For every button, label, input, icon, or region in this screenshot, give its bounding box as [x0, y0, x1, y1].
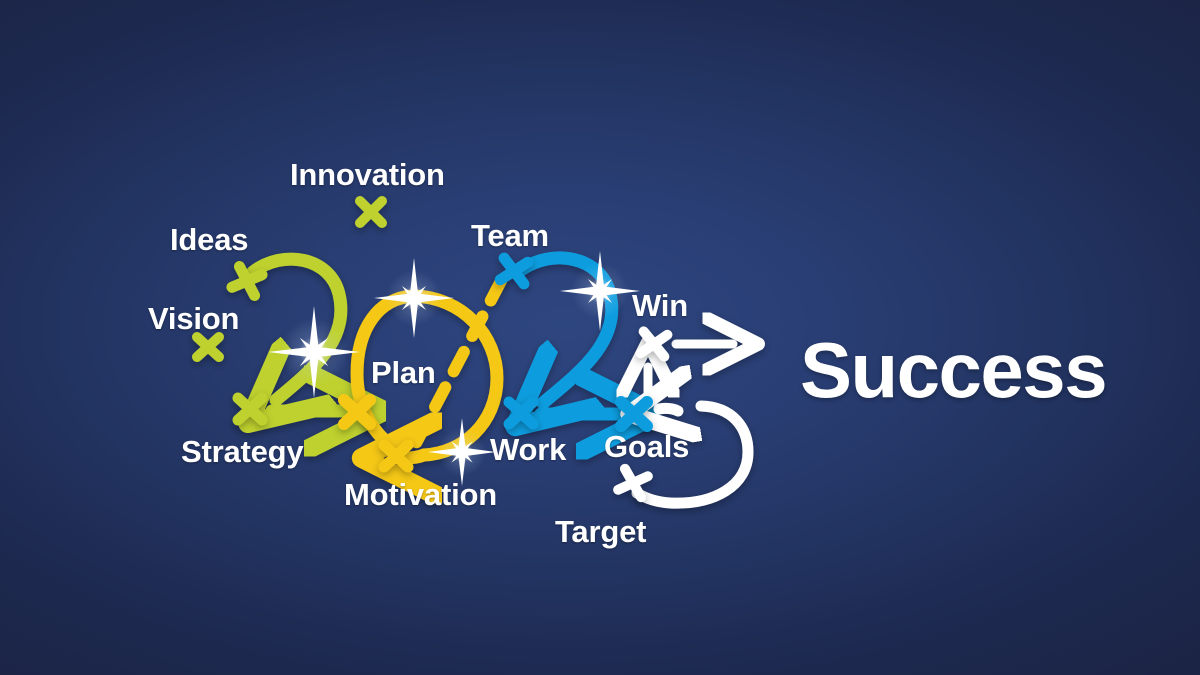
label-ideas: Ideas — [170, 222, 248, 258]
cross-win — [641, 331, 668, 356]
white-c-arrow — [659, 408, 678, 411]
cross-team — [500, 258, 527, 284]
label-vision: Vision — [148, 301, 239, 337]
label-target: Target — [555, 514, 646, 550]
cross-vision — [197, 337, 219, 357]
cross-work — [509, 402, 533, 424]
sparkle-zero-top — [374, 258, 454, 338]
cross-ideas — [232, 267, 262, 296]
label-strategy: Strategy — [181, 434, 303, 470]
label-goals: Goals — [604, 429, 689, 465]
label-motivation: Motivation — [344, 477, 497, 513]
cross-strategy — [238, 398, 262, 420]
cross-target — [618, 469, 648, 497]
label-win: Win — [632, 288, 688, 324]
success-headline: Success — [800, 331, 1106, 409]
digit-5-white — [637, 344, 748, 503]
cross-innovation — [360, 201, 382, 223]
label-plan: Plan — [371, 355, 436, 391]
label-innovation: Innovation — [290, 157, 445, 193]
label-team: Team — [471, 218, 549, 254]
poster-canvas: Innovation Ideas Team Vision Win Plan St… — [0, 0, 1200, 675]
label-work: Work — [490, 432, 566, 468]
